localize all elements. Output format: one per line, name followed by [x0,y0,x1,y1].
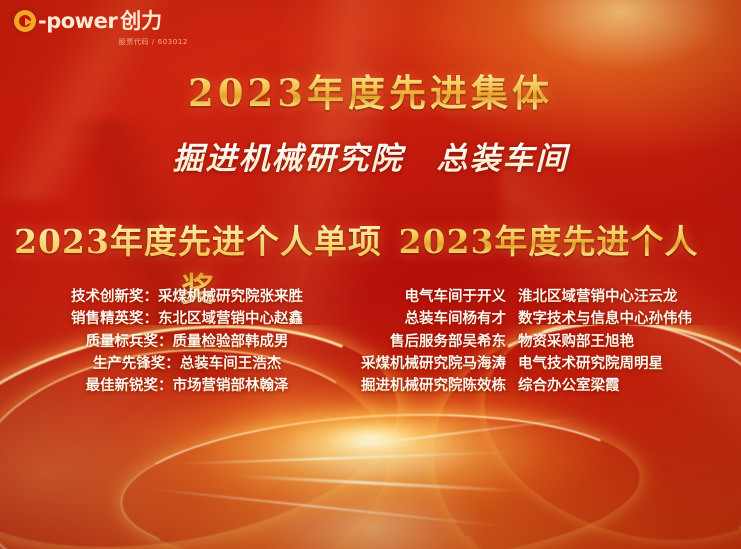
list-item: 最佳新锐奖：市场营销部林翰泽 [44,375,330,397]
list-single-awards: 技术创新奖：采煤机械研究院张来胜销售精英奖：东北区域营销中心赵鑫质量标兵奖：质量… [0,286,330,397]
company-logo: -power 创力 股票代码 / 603012 [14,10,194,47]
list-item: 质量标兵奖：质量检验部韩成男 [44,331,330,353]
list-item: 电气技术研究院周明星 [512,353,741,375]
page-subtitle: 掘进机械研究院 总装车间 [0,133,741,178]
list-item: 综合办公室梁霞 [512,375,741,397]
list-item: 掘进机械研究院陈效栋 [330,375,512,397]
list-item: 技术创新奖：采煤机械研究院张来胜 [44,286,330,308]
list-item: 销售精英奖：东北区域营销中心赵鑫 [44,308,330,330]
logo-wordmark: -power [38,11,117,32]
c-power-circle-arrow-icon [14,10,36,32]
list-item: 淮北区域营销中心汪云龙 [512,286,741,308]
list-item: 生产先锋奖：总装车间王浩杰 [44,353,330,375]
list-item: 采煤机械研究院马海涛 [330,353,512,375]
list-item: 售后服务部吴希东 [330,331,512,353]
stock-code-label: 股票代码 / 603012 [14,37,194,47]
list-item: 数字技术与信息中心孙伟伟 [512,308,741,330]
award-poster: -power 创力 股票代码 / 603012 2023年度先进集体 掘进机械研… [0,0,741,549]
page-title: 2023年度先进集体 [0,63,741,117]
list-item: 电气车间于开义 [330,286,512,308]
logo-wordmark-cn: 创力 [120,11,162,32]
list-item: 总装车间杨有才 [330,308,512,330]
list-advanced-individuals-col2: 淮北区域营销中心汪云龙数字技术与信息中心孙伟伟物资采购部王旭艳电气技术研究院周明… [512,286,741,397]
award-lists: 技术创新奖：采煤机械研究院张来胜销售精英奖：东北区域营销中心赵鑫质量标兵奖：质量… [0,286,741,397]
heading-advanced-individuals: 2023年度先进个人 [396,215,741,263]
list-advanced-individuals-col1: 电气车间于开义总装车间杨有才售后服务部吴希东采煤机械研究院马海涛掘进机械研究院陈… [330,286,512,397]
list-item: 物资采购部王旭艳 [512,331,741,353]
